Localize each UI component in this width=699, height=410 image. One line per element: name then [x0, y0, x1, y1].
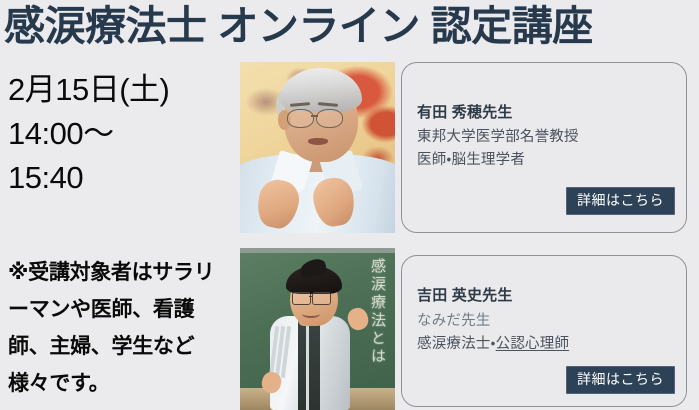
speaker-name: 吉田 英史先生	[417, 284, 513, 305]
left-info-column: 2月15日(土) 14:00〜 15:40 ※受講対象者はサラリーマンや医師、看…	[0, 56, 236, 410]
speaker-photo-yoshida-illustration: 感涙療法とは	[240, 248, 395, 410]
audience-note: ※受講対象者はサラリーマンや医師、看護師、主婦、学生など様々です。	[8, 254, 234, 402]
page-title: 感涙療法士 オンライン 認定講座	[4, 0, 699, 54]
photo-eyeglass-left	[292, 292, 311, 305]
photo-eyeglass-left	[287, 109, 314, 128]
speaker-card-arita: 有田 秀穂先生 東邦大学医学部名誉教授 医師・脳生理学者 詳細はこちら	[401, 62, 687, 233]
promo-banner: 感涙療法士 オンライン 認定講座 2月15日(土) 14:00〜 15:40 ※…	[0, 0, 699, 410]
event-start-time: 14:00〜	[8, 112, 234, 156]
photo-chalkboard-frame	[240, 248, 395, 253]
event-datetime: 2月15日(土) 14:00〜 15:40	[8, 68, 234, 200]
photo-eyeglass-right	[312, 292, 331, 305]
photo-eyeglass-right	[316, 109, 343, 128]
speaker-name: 有田 秀穂先生	[417, 101, 513, 122]
speaker-title-text: 医師・脳生理学者	[417, 152, 525, 168]
event-date: 2月15日(土)	[8, 68, 234, 112]
detail-button-yoshida[interactable]: 詳細はこちら	[566, 366, 675, 394]
photo-mouth	[308, 138, 328, 145]
speaker-card-yoshida: 吉田 英史先生 なみだ先生 感涙療法士・公認心理師 詳細はこちら	[401, 255, 687, 407]
photo-chalkboard-text: 感涙療法とは	[364, 258, 386, 366]
speaker-qualification-link[interactable]: 公認心理師	[496, 336, 570, 352]
speaker-title: 感涙療法士・公認心理師	[417, 332, 569, 353]
photo-eyeglass-bridge	[311, 115, 318, 117]
speaker-title: 医師・脳生理学者	[417, 148, 525, 169]
speaker-title-text: 感涙療法士・	[417, 336, 496, 352]
detail-button-arita[interactable]: 詳細はこちら	[566, 187, 675, 215]
speaker-photo-arita	[240, 62, 395, 233]
photo-mouth	[302, 310, 320, 318]
speaker-photo-arita-illustration	[240, 62, 395, 233]
photo-tracksuit-zipper	[306, 318, 309, 410]
speaker-photo-yoshida: 感涙療法とは	[240, 248, 395, 410]
photo-tracksuit-panel	[298, 316, 320, 410]
photo-eyeglass-bridge	[309, 296, 313, 297]
event-end-time: 15:40	[8, 156, 234, 200]
speaker-nickname: なみだ先生	[417, 309, 491, 330]
speaker-affiliation: 東邦大学医学部名誉教授	[417, 125, 579, 146]
